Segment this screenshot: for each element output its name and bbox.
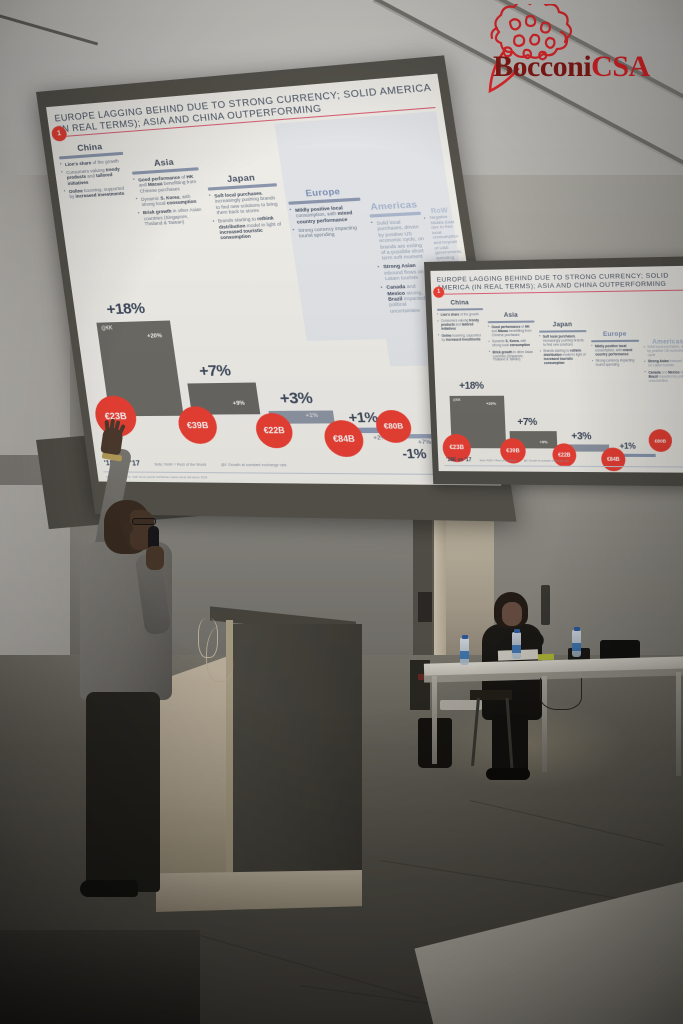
- presenter-shoes: [80, 880, 138, 897]
- ceiling-rail-2: [486, 0, 683, 191]
- bullet-list: Solid local purchases, driven by positiv…: [644, 345, 683, 383]
- bottle-label: [572, 643, 581, 651]
- footer-note-2: @f: Growth at constant exchange rate: [221, 463, 287, 468]
- bottle-label: [512, 645, 521, 653]
- column-europe-2: Europe Mildly positive local consumption…: [591, 330, 641, 370]
- column-header: China: [437, 299, 483, 307]
- list-item: Strong Asian inbound flows on Latam tour…: [644, 360, 683, 368]
- water-bottle[interactable]: [512, 632, 521, 659]
- slide-number-badge-2: 1: [433, 287, 444, 298]
- slide-footer-2: '18E vs '17 Note: RoW = Rest of the Worl…: [446, 457, 683, 464]
- growth-label-japan: +3%: [279, 389, 314, 407]
- value-bubble-europe: €84B: [322, 420, 366, 457]
- list-item: Dynamic S. Korea, with strong local cons…: [489, 340, 536, 348]
- eyeglasses-icon: [132, 518, 156, 525]
- list-item: Canada and Mexico strong, Brazil impacte…: [645, 371, 683, 383]
- column-header: Americas: [368, 199, 421, 213]
- bar-label-japan: +1%: [305, 413, 318, 420]
- lectern-front-panel: [230, 624, 362, 902]
- list-item: Good performance of HK and Macau benefit…: [488, 326, 535, 338]
- list-item: Consumers valuing trendy products and ta…: [437, 320, 484, 332]
- bottle-cap: [514, 629, 520, 633]
- bar-label-americas: +7%: [418, 440, 432, 447]
- list-item: Soft local purchases, increasingly pushi…: [209, 189, 281, 216]
- constant-rate-icon-2: @€K: [453, 398, 461, 402]
- bar-label-asia-2: +9%: [540, 440, 548, 444]
- list-item: Good performance of HK and Macau benefit…: [133, 173, 202, 194]
- bullet-list: Good performance of HK and Macau benefit…: [488, 326, 536, 363]
- chair-leg: [471, 698, 479, 766]
- column-rule: [437, 308, 483, 311]
- panelist-face: [502, 602, 522, 626]
- column-header: Europe: [591, 330, 639, 338]
- list-item: Solid local purchases, driven by positiv…: [644, 345, 683, 358]
- column-rule: [539, 330, 587, 333]
- growth-label-americas: -1%: [401, 446, 427, 461]
- growth-label-japan-2: +3%: [571, 431, 591, 442]
- bar-label-china-2: +20%: [486, 402, 496, 406]
- presenter-hand: [100, 427, 123, 456]
- bullet-list: Soft local purchases, increasingly pushi…: [539, 335, 588, 366]
- list-item: Strong Asian inbound flows on Latam tour…: [377, 262, 431, 282]
- column-rule: [369, 211, 421, 217]
- presenter-legs: [86, 692, 160, 892]
- water-bottle[interactable]: [460, 638, 469, 665]
- list-item: Strong currency impacting tourist spendi…: [592, 359, 640, 367]
- column-asia-2: Asia Good performance of HK and Macau be…: [487, 311, 536, 365]
- table-leg: [432, 676, 437, 764]
- bullet-list: Lion's share of the growth Consumers val…: [60, 158, 129, 200]
- photograph-scene: EUROPE LAGGING BEHIND DUE TO STRONG CURR…: [0, 0, 683, 1024]
- footer-divider-2: [444, 465, 683, 467]
- list-item: Negative Middle East due to free local c…: [424, 214, 465, 266]
- presenter-mic-hand: [146, 546, 164, 570]
- list-item: Brands starting to rethink distribution …: [212, 215, 285, 241]
- bar-label-asia: +9%: [232, 401, 245, 407]
- bottle-label: [460, 651, 469, 659]
- footer-note-2a: Note: RoW = Rest of the World: [480, 459, 516, 462]
- list-item: Dynamic S. Korea, with strong local cons…: [136, 193, 204, 208]
- column-europe: Europe Mildly positive local consumption…: [286, 185, 366, 242]
- list-item: Strong currency impacting tourist spendi…: [292, 224, 366, 239]
- list-item: Online booming, supported by increased i…: [438, 334, 485, 342]
- list-item: Brands starting to rethink distribution …: [540, 350, 588, 366]
- bullet-list: Soft local purchases, increasingly pushi…: [209, 189, 285, 241]
- column-header: Asia: [487, 311, 534, 319]
- growth-label-asia: +7%: [198, 362, 232, 380]
- column-rule: [591, 339, 639, 342]
- panelist-shoes: [486, 768, 530, 780]
- column-header: Japan: [539, 321, 587, 329]
- ceiling-edge: [0, 10, 98, 46]
- list-item: Soft local purchases, increasingly pushi…: [539, 335, 587, 347]
- column-japan: Japan Soft local purchases, increasingly…: [206, 171, 285, 244]
- list-item: Solid local purchases, driven by positiv…: [370, 218, 427, 262]
- footer-period-2: '18E vs '17: [446, 457, 472, 463]
- list-item: Lion's share of the growth: [437, 313, 483, 318]
- column-americas-2: Americas Solid local purchases, driven b…: [643, 338, 683, 386]
- water-bottle[interactable]: [572, 630, 581, 657]
- bottle-cap: [462, 635, 468, 639]
- growth-label-china: +18%: [105, 300, 145, 319]
- chair-leg: [506, 698, 513, 768]
- table-leg: [676, 672, 681, 776]
- column-asia: Asia Good performance of HK and Macau be…: [130, 155, 207, 230]
- table-cable: [540, 678, 582, 710]
- list-item: Consumers valuing trendy products and ta…: [61, 166, 127, 187]
- list-item: Online booming, supported by increased i…: [64, 185, 130, 200]
- bar-label-china: +20%: [147, 333, 163, 340]
- slide-secondary: EUROPE LAGGING BEHIND DUE TO STRONG CURR…: [430, 266, 683, 473]
- growth-label-europe-2: +1%: [619, 441, 635, 450]
- ceiling-rail-2-highlight: [490, 0, 683, 195]
- growth-label-china-2: +18%: [459, 381, 484, 392]
- bullet-list: Lion's share of the growth Consumers val…: [437, 313, 484, 342]
- floor-shadow: [0, 930, 200, 1024]
- list-item: Mildly positive local consumption, with …: [289, 204, 363, 225]
- presenter: [58, 430, 228, 930]
- constant-rate-icon: @€K: [101, 325, 113, 331]
- door-frame: [434, 500, 446, 680]
- bullet-list: Negative Middle East due to free local c…: [424, 214, 465, 266]
- column-china: China Lion's share of the growth Consume…: [57, 140, 129, 203]
- bottle-cap: [574, 627, 580, 631]
- projection-screen-secondary[interactable]: EUROPE LAGGING BEHIND DUE TO STRONG CURR…: [424, 256, 683, 486]
- bullet-list: Good performance of HK and Macau benefit…: [133, 173, 207, 227]
- list-item: Brisk growth in other Asian countries (S…: [137, 207, 206, 227]
- chair-panelist[interactable]: [470, 690, 516, 768]
- footer-note-2b: @f: Growth at constant exchange rate: [524, 459, 569, 462]
- value-bubble-americas-2: €80B: [648, 429, 672, 452]
- column-china-2: China Lion's share of the growth Consume…: [437, 299, 485, 345]
- bullet-list: Mildly positive local consumption, with …: [591, 345, 640, 368]
- list-item: Mildly positive local consumption, with …: [591, 345, 640, 357]
- growth-label-asia-2: +7%: [517, 417, 537, 428]
- column-rule: [488, 320, 535, 323]
- list-item: Brisk growth in other Asian countries (S…: [489, 351, 536, 363]
- wall-plaque: [418, 592, 432, 622]
- column-japan-2: Japan Soft local purchases, increasingly…: [539, 321, 588, 369]
- bullet-list: Mildly positive local consumption, with …: [289, 204, 366, 239]
